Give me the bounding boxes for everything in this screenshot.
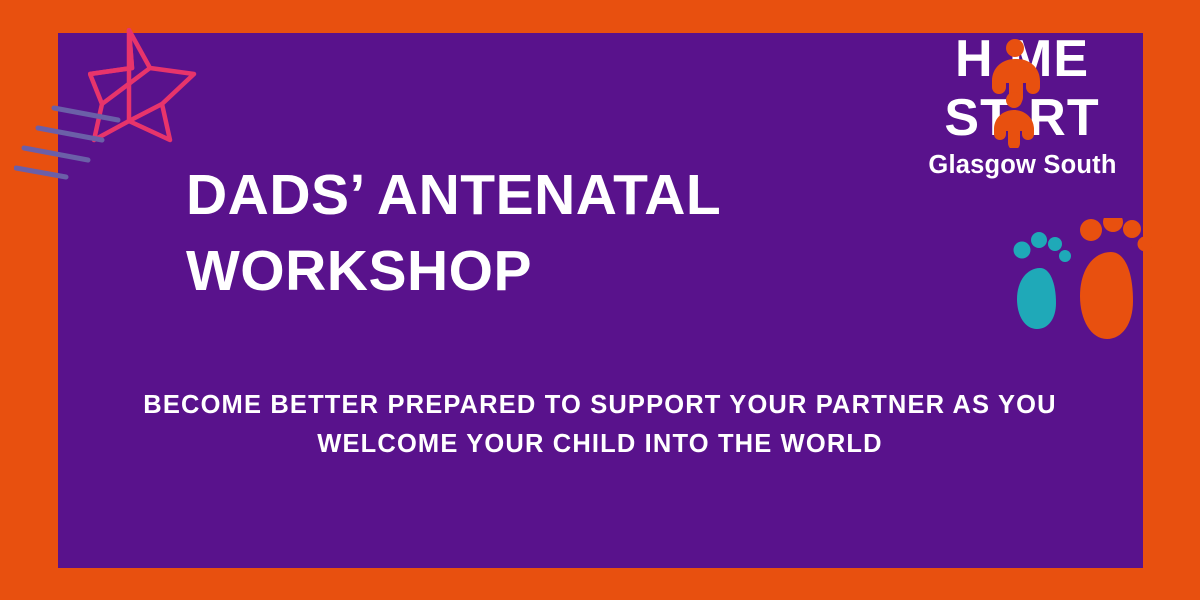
poster-canvas: H ME ST RT Glasgow South (0, 0, 1200, 600)
speed-lines-icon (14, 104, 124, 182)
poster-subtitle: Become better prepared to support your p… (80, 386, 1120, 464)
logo-location-label: Glasgow South (915, 151, 1130, 180)
logo-wordmark: H ME ST RT (915, 28, 1130, 148)
baby-footprints-icon (1007, 218, 1152, 358)
page-title: Dads’ Antenatal Workshop (186, 158, 906, 310)
home-start-logo: H ME ST RT Glasgow South (915, 28, 1130, 198)
